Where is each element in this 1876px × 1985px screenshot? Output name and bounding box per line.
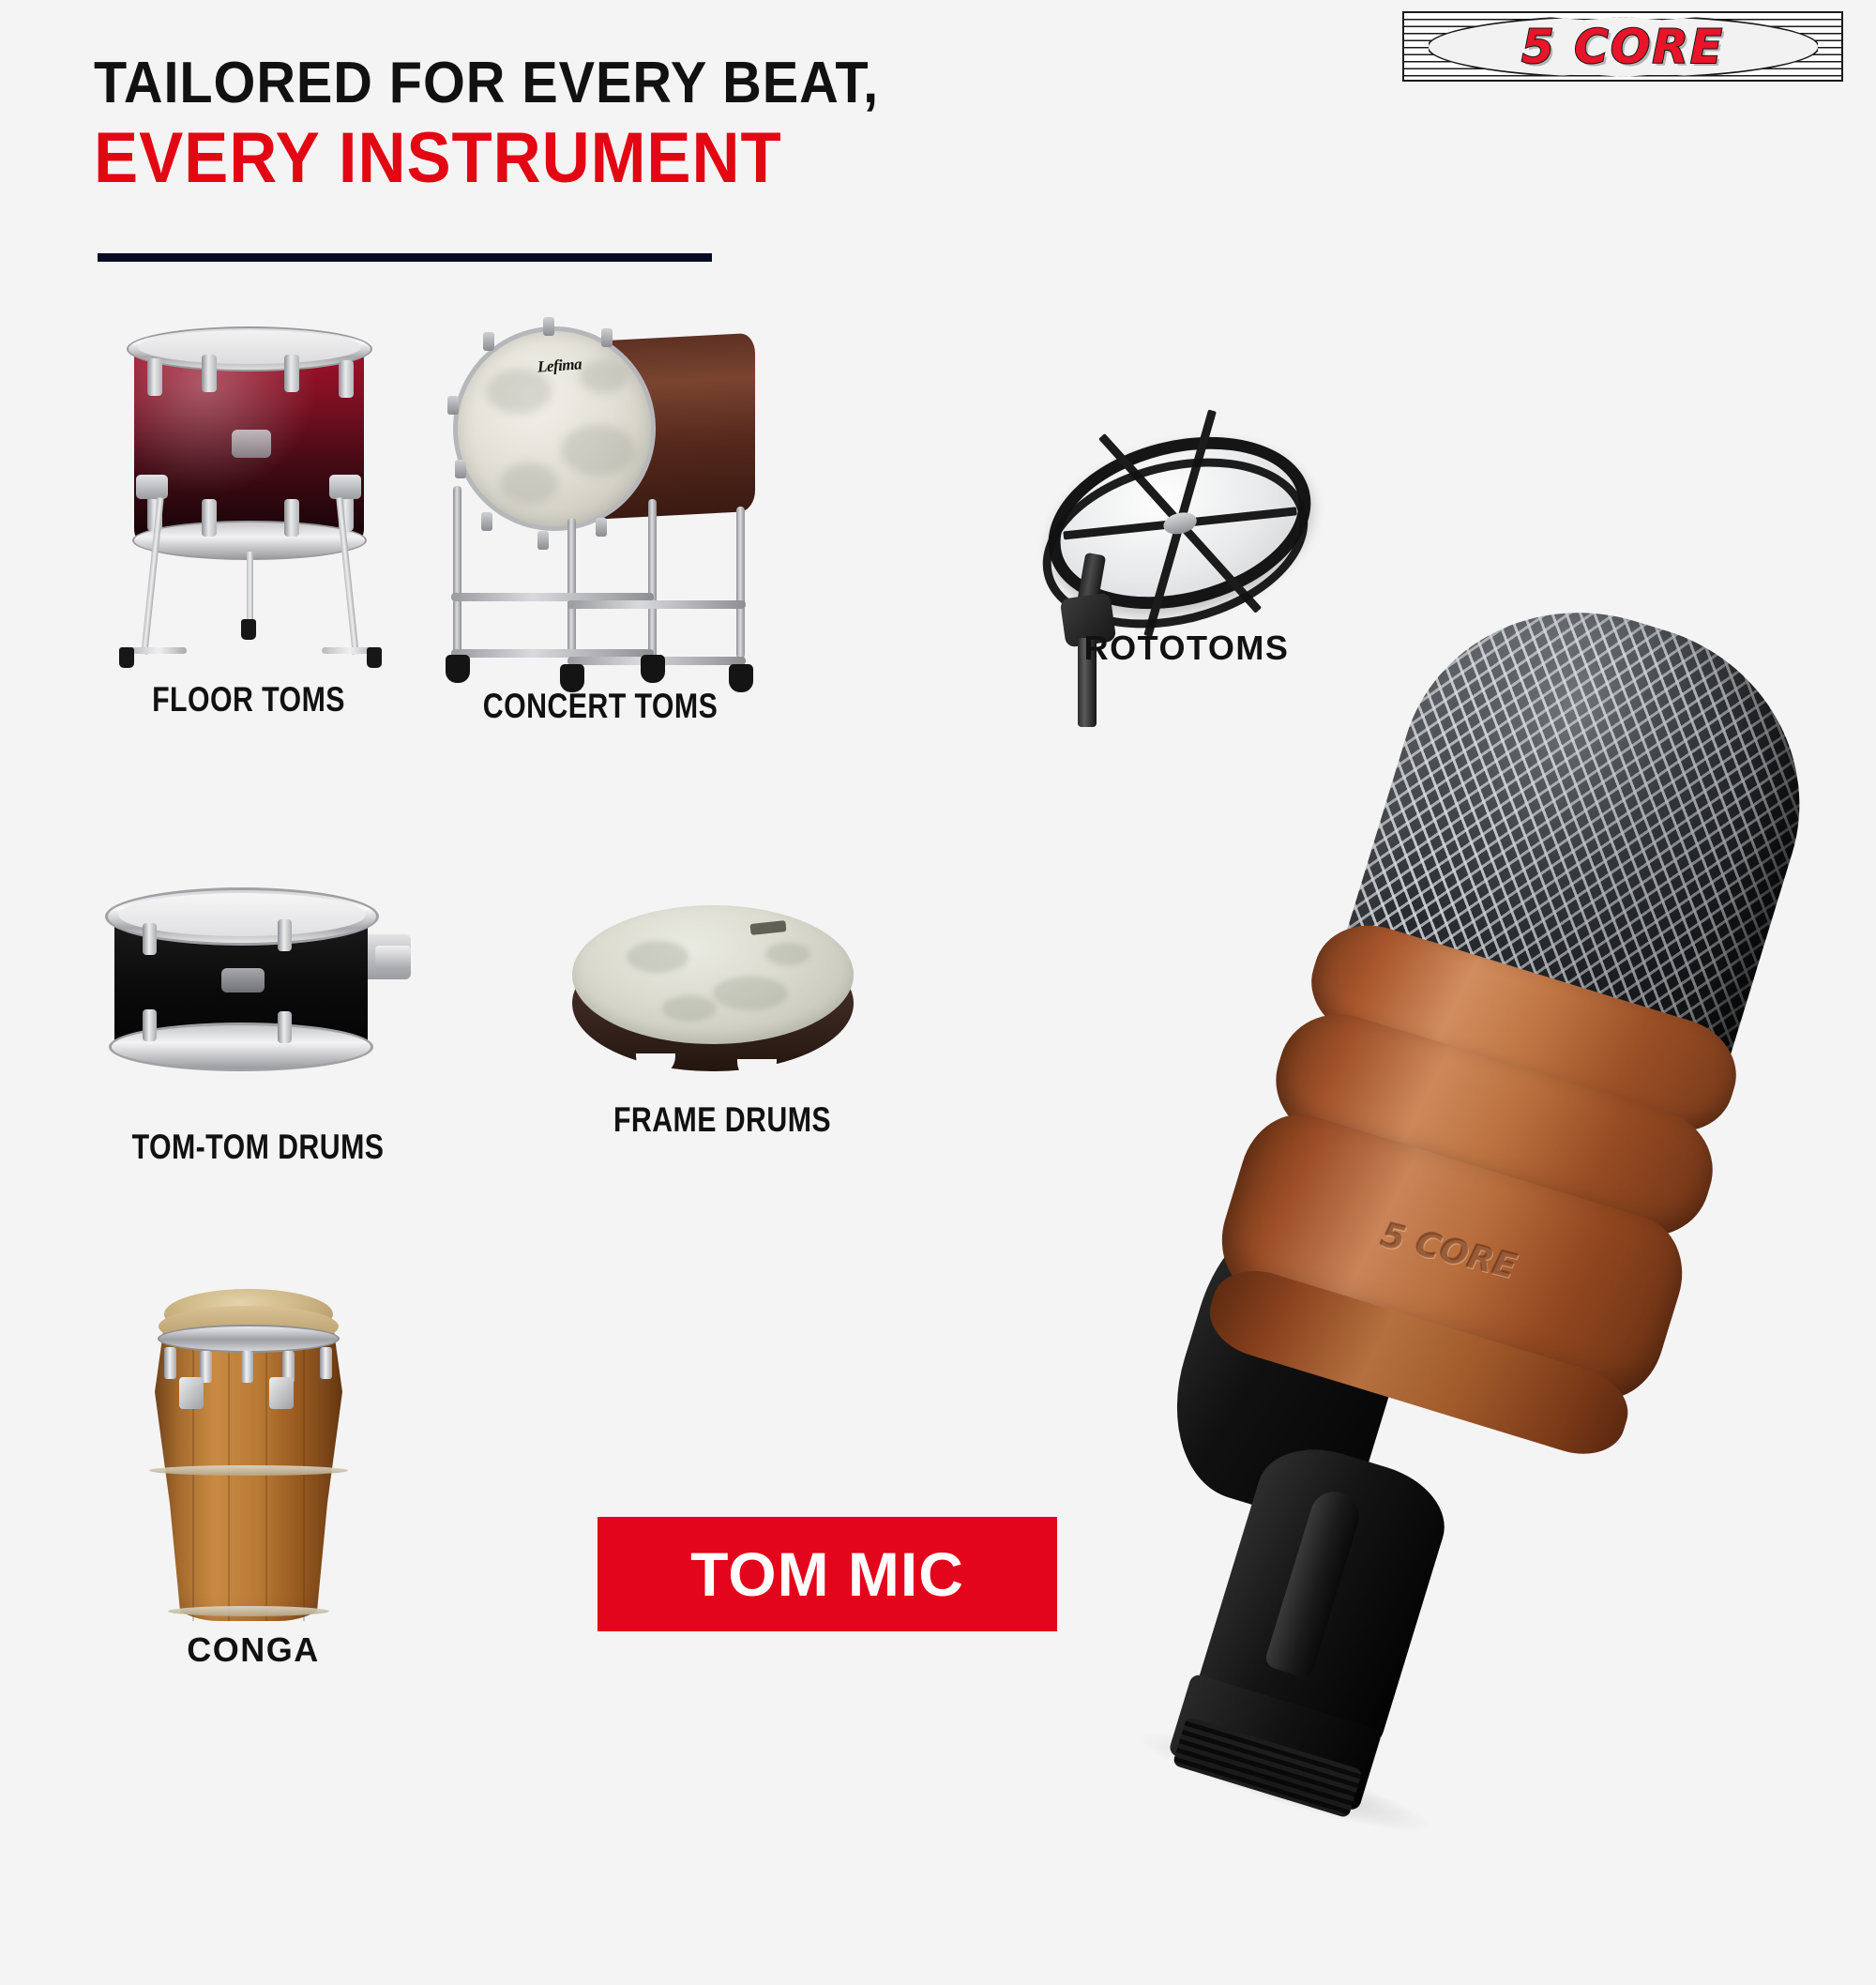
cart-caster — [446, 655, 470, 683]
cart-upright — [567, 518, 576, 659]
conga-band — [168, 1606, 329, 1616]
conga-band — [149, 1465, 348, 1476]
product-label-frame-drums: FRAME DRUMS — [613, 1100, 831, 1140]
tension-rod — [483, 332, 494, 351]
floor-tom-badge — [232, 430, 271, 458]
headline-line-2: EVERY INSTRUMENT — [94, 122, 879, 195]
tension-rod — [447, 396, 459, 415]
cart-caster — [729, 664, 753, 692]
tom-tom-lug — [278, 919, 292, 951]
conga-lug — [164, 1347, 176, 1379]
headline-block: TAILORED FOR EVERY BEAT, EVERY INSTRUMEN… — [94, 54, 938, 195]
floor-tom-leg-bracket — [329, 475, 361, 499]
tension-rod — [537, 531, 549, 550]
frame-drum-notch — [737, 1059, 777, 1082]
floor-tom-foot — [367, 647, 382, 668]
conga-lug — [320, 1347, 332, 1379]
cart-upright — [453, 486, 461, 657]
tension-rod — [596, 518, 607, 537]
tom-mount-rod — [375, 946, 411, 970]
tom-tom-lug — [143, 923, 157, 955]
cart-caster — [641, 655, 665, 683]
floor-tom-lug — [284, 499, 299, 537]
hero-product-tom-mic: 5 CORE — [985, 657, 1867, 1876]
frame-drum-head — [572, 905, 854, 1044]
head-texture — [662, 995, 717, 1022]
logo-text: 5 CORE — [1402, 11, 1843, 82]
floor-tom-lug — [339, 360, 354, 398]
tension-rod — [455, 460, 466, 478]
headline-underline — [98, 253, 712, 262]
product-label-tom-tom-drums: TOM-TOM DRUMS — [132, 1128, 385, 1167]
concert-drum-head-logo: Lefima — [537, 355, 582, 376]
head-texture — [627, 941, 688, 973]
head-texture — [580, 359, 628, 393]
conga-side-plate — [179, 1377, 204, 1409]
conga-rim — [158, 1325, 340, 1353]
cart-crossbar — [567, 600, 746, 609]
floor-tom-leg-bracket — [136, 475, 168, 499]
product-frame-drums: FRAME DRUMS — [563, 896, 882, 1130]
floor-tom-foot-arm — [130, 647, 187, 654]
tom-mic-badge: TOM MIC — [598, 1517, 1057, 1631]
floor-tom-foot — [241, 619, 256, 640]
head-texture — [765, 943, 810, 965]
microphone-assembly: 5 CORE — [889, 561, 1876, 1985]
floor-tom-lug — [147, 358, 162, 396]
floor-tom-drumhead — [138, 330, 361, 364]
product-label-concert-toms: CONCERT TOMS — [483, 687, 718, 726]
product-tom-tom-drums: TOM-TOM DRUMS — [94, 872, 422, 1135]
tension-rod — [601, 328, 613, 347]
floor-tom-leg — [247, 552, 253, 625]
product-concert-toms: Lefima CONCERT TOMS — [427, 319, 774, 704]
head-texture — [500, 462, 558, 504]
conga-side-plate — [269, 1377, 294, 1409]
product-conga: CONGA — [127, 1257, 380, 1660]
conga-lug — [241, 1351, 253, 1383]
cart-upright — [648, 499, 657, 659]
head-texture — [561, 425, 636, 476]
product-label-floor-toms: FLOOR TOMS — [152, 680, 345, 720]
floor-tom-lug — [202, 355, 217, 392]
tom-tom-lug — [278, 1011, 292, 1043]
product-label-conga: CONGA — [187, 1630, 320, 1670]
head-texture — [713, 977, 788, 1010]
tension-rod — [543, 317, 554, 336]
tension-rod — [481, 512, 492, 531]
product-floor-toms: FLOOR TOMS — [89, 310, 408, 704]
floor-tom-foot — [119, 647, 134, 668]
floor-tom-lug — [284, 355, 299, 392]
headline-line-1: TAILORED FOR EVERY BEAT, — [94, 54, 879, 113]
cart-upright — [736, 507, 745, 659]
brand-logo: 5 CORE — [1402, 11, 1843, 82]
floor-tom-lug — [202, 499, 217, 537]
frame-drum-notch — [636, 1053, 675, 1076]
tom-mic-badge-label: TOM MIC — [690, 1538, 964, 1610]
poster-canvas: 5 CORE TAILORED FOR EVERY BEAT, EVERY IN… — [0, 0, 1876, 1876]
tom-tom-badge — [221, 968, 265, 992]
tom-tom-lug — [143, 1009, 157, 1041]
